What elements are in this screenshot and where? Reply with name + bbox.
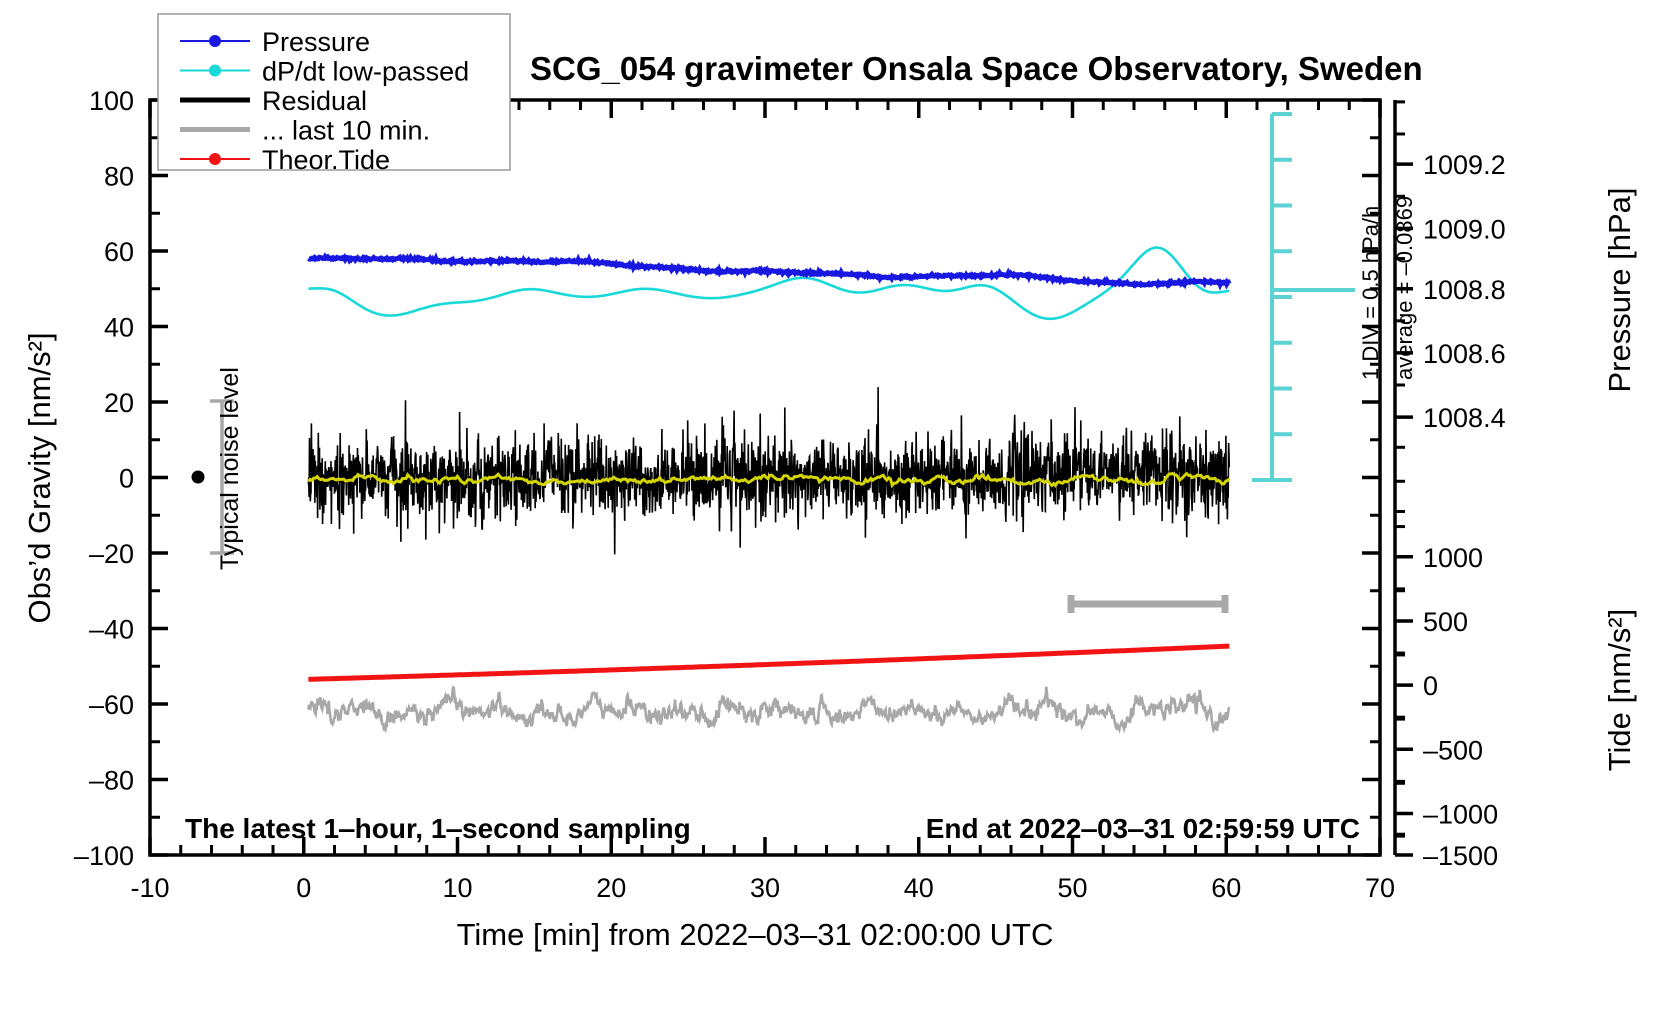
x-axis-tick: 60 [1211, 873, 1241, 903]
y-axis-left-tick: ‒100 [74, 841, 134, 871]
y-axis-left-tick: ‒20 [89, 539, 134, 569]
legend-label: Residual [262, 86, 367, 116]
legend-marker [209, 35, 221, 47]
chart-title: SCG_054 gravimeter Onsala Space Observat… [530, 50, 1423, 87]
tide-axis-tick: ‒500 [1423, 735, 1483, 765]
y-axis-right-pressure-label: Pressure [hPa] [1602, 187, 1637, 392]
legend-marker [209, 153, 221, 165]
y-axis-left-tick: ‒60 [89, 690, 134, 720]
y-axis-left-tick: 40 [104, 313, 134, 343]
x-axis-tick: 30 [750, 873, 780, 903]
y-axis-left-tick: 100 [89, 86, 134, 116]
x-axis-tick: 10 [442, 873, 472, 903]
x-axis-tick: 20 [596, 873, 626, 903]
tide-axis-tick: ‒1000 [1423, 799, 1498, 829]
x-axis-label: Time [min] from 2022‒03‒31 02:00:00 UTC [457, 917, 1054, 952]
legend-label: Pressure [262, 27, 370, 57]
y-axis-left-tick: ‒40 [89, 615, 134, 645]
x-axis-tick: 70 [1365, 873, 1395, 903]
x-axis-tick: 50 [1057, 873, 1087, 903]
x-axis-tick: 0 [296, 873, 311, 903]
tide-axis-tick: 0 [1423, 671, 1438, 701]
pressure-axis-tick: 1008.4 [1423, 403, 1506, 433]
dpdt-average-label: average = ‒0.0869 [1392, 196, 1417, 380]
y-axis-left-tick: 0 [119, 464, 134, 494]
dpdt-div-label: 1 DIV = 0.5 hPa/h [1358, 206, 1383, 380]
footer-left-text: The latest 1‒hour, 1‒second sampling [185, 813, 691, 844]
pressure-axis-tick: 1008.6 [1423, 339, 1506, 369]
pressure-axis-tick: 1009.0 [1423, 214, 1506, 244]
legend-label: ... last 10 min. [262, 116, 430, 146]
legend-label: Theor.Tide [262, 145, 390, 175]
x-axis-tick: -10 [130, 873, 169, 903]
pressure-axis-tick: 1009.2 [1423, 150, 1506, 180]
footer-right-text: End at 2022‒03‒31 02:59:59 UTC [926, 813, 1360, 844]
typical-noise-level-label: Typical noise level [216, 367, 244, 570]
y-axis-left-tick: 60 [104, 237, 134, 267]
tide-axis-tick: 1000 [1423, 543, 1483, 573]
y-axis-right-tide-label: Tide [nm/s²] [1602, 609, 1637, 772]
x-axis-tick: 40 [904, 873, 934, 903]
tide-axis-tick: 500 [1423, 607, 1468, 637]
legend-label: dP/dt low-passed [262, 57, 469, 87]
gravimeter-plot: 100806040200‒20‒40‒60‒80‒100 -1001020304… [0, 0, 1660, 1020]
chart-canvas: 100806040200‒20‒40‒60‒80‒100 -1001020304… [0, 0, 1660, 1020]
y-axis-left-tick: ‒80 [89, 766, 134, 796]
y-axis-left-tick: 80 [104, 162, 134, 192]
legend: PressuredP/dt low-passedResidual... last… [158, 14, 510, 175]
y-axis-left-tick: 20 [104, 388, 134, 418]
y-axis-left-label: Obs’d Gravity [nm/s²] [22, 332, 57, 623]
pressure-axis-tick: 1008.8 [1423, 275, 1506, 305]
tide-axis-tick: ‒1500 [1423, 841, 1498, 871]
legend-marker [209, 65, 221, 77]
